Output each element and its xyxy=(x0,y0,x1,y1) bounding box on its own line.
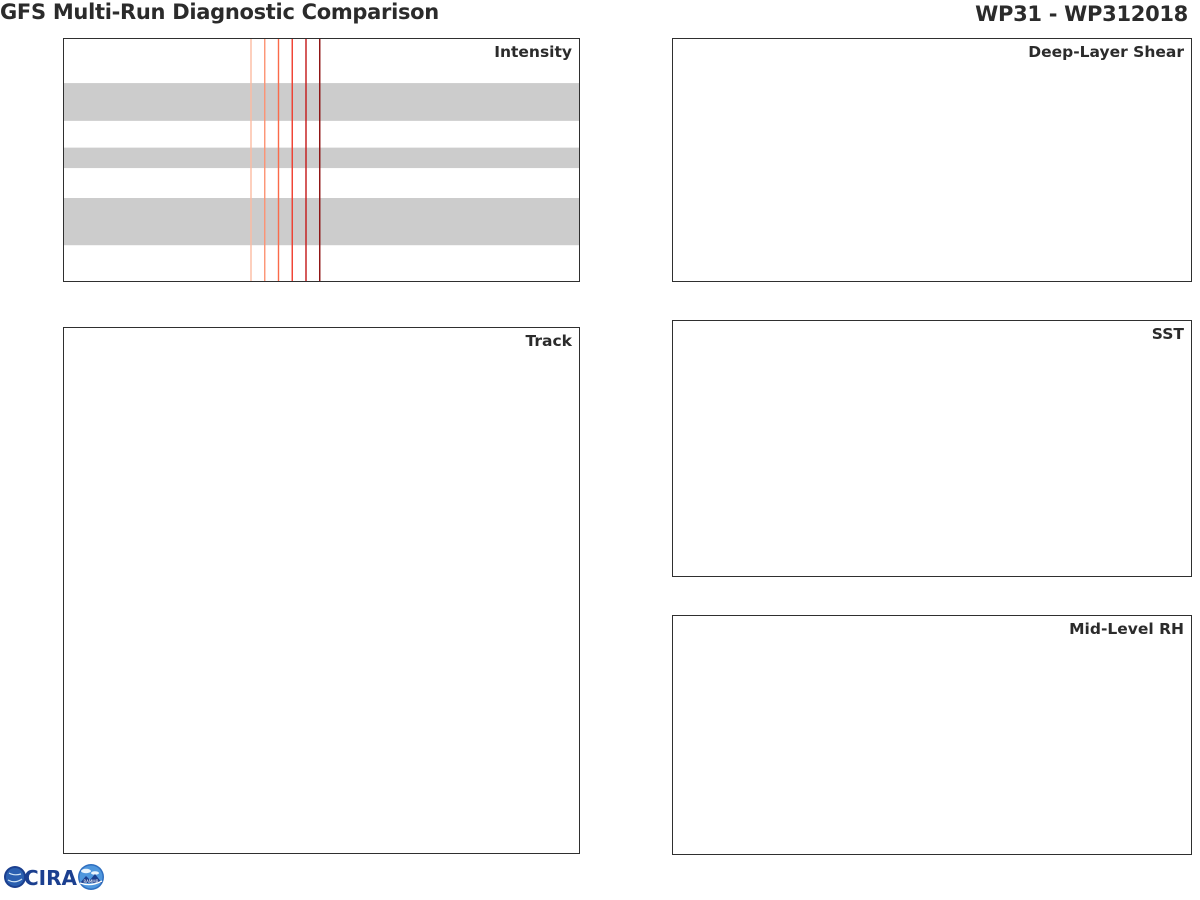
track-panel-title: Track xyxy=(526,332,572,350)
rh-panel-title: Mid-Level RH xyxy=(1069,620,1184,638)
shear-panel-title: Deep-Layer Shear xyxy=(1028,43,1184,61)
intensity-band xyxy=(64,198,580,245)
panel-sst: SST xyxy=(672,320,1192,577)
panel-track: Track xyxy=(63,327,580,854)
rh-plot-area xyxy=(673,616,1192,855)
panel-shear: Deep-Layer Shear xyxy=(672,38,1192,282)
cira-logo: CIRA RAMMB xyxy=(2,856,106,898)
sst-plot-area xyxy=(673,321,1192,577)
track-map-area xyxy=(64,328,580,854)
panel-intensity: Intensity xyxy=(63,38,580,282)
intensity-band xyxy=(64,148,580,168)
sst-panel-title: SST xyxy=(1152,325,1184,343)
intensity-panel-title: Intensity xyxy=(494,43,572,61)
shear-plot-area xyxy=(673,39,1192,282)
svg-text:CIRA: CIRA xyxy=(24,866,78,890)
page-title-right: WP31 - WP312018 xyxy=(975,2,1188,26)
intensity-band xyxy=(64,83,580,121)
intensity-plot-area xyxy=(64,39,580,282)
panel-rh: Mid-Level RH xyxy=(672,615,1192,855)
page-title-left: GFS Multi-Run Diagnostic Comparison xyxy=(0,0,439,24)
svg-text:RAMMB: RAMMB xyxy=(84,879,99,884)
